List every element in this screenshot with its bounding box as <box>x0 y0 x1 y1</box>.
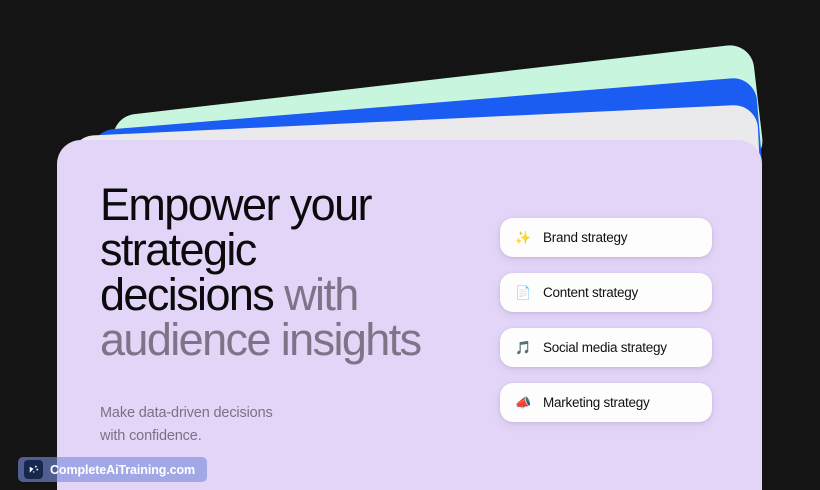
strategy-pill-label: Content strategy <box>543 285 638 300</box>
strategy-pill-list: ✨ Brand strategy 📄 Content strategy 🎵 So… <box>500 218 712 422</box>
sparkles-icon: ✨ <box>516 231 531 244</box>
watermark-badge[interactable]: CompleteAiTraining.com <box>18 457 207 482</box>
slide-canvas: Empower your strategic decisions with au… <box>0 0 820 490</box>
strategy-pill-label: Brand strategy <box>543 230 627 245</box>
subtitle-line-1: Make data-driven decisions <box>100 405 273 421</box>
page-title: Empower your strategic decisions with au… <box>100 182 500 362</box>
headline-line-2: strategic <box>100 224 256 275</box>
strategy-pill-social-media[interactable]: 🎵 Social media strategy <box>500 328 712 367</box>
watermark-text: CompleteAiTraining.com <box>50 463 195 477</box>
hero-subtitle: Make data-driven decisions with confiden… <box>100 402 350 449</box>
strategy-pill-label: Marketing strategy <box>543 395 650 410</box>
headline-line-4-muted: audience insights <box>100 314 421 365</box>
megaphone-icon: 📣 <box>516 396 531 409</box>
main-content-card: Empower your strategic decisions with au… <box>57 140 762 490</box>
strategy-pill-marketing[interactable]: 📣 Marketing strategy <box>500 383 712 422</box>
music-note-icon: 🎵 <box>516 341 531 354</box>
headline-line-3-dark: decisions <box>100 269 273 320</box>
strategy-pill-content[interactable]: 📄 Content strategy <box>500 273 712 312</box>
headline-line-1: Empower your <box>100 179 371 230</box>
page-icon: 📄 <box>516 286 531 299</box>
strategy-pill-label: Social media strategy <box>543 340 667 355</box>
headline-line-3-muted: with <box>284 269 358 320</box>
brand-logo-icon <box>24 460 43 479</box>
strategy-pill-brand[interactable]: ✨ Brand strategy <box>500 218 712 257</box>
hero-text-column: Empower your strategic decisions with au… <box>100 182 500 449</box>
subtitle-line-2: with confidence. <box>100 428 202 444</box>
